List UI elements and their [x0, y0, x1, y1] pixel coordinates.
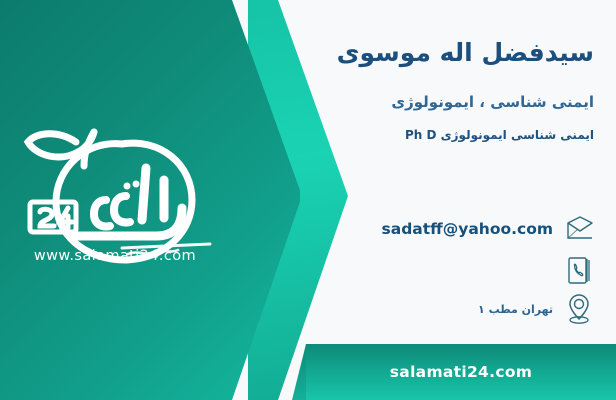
contact-row-email[interactable]: sadatff@yahoo.com	[382, 212, 596, 246]
degree-persian-text: ایمنی شناسی ایمونولوژی	[441, 128, 594, 142]
logo-website-url: www.salamati24.com	[20, 248, 210, 264]
map-pin-icon	[562, 292, 596, 326]
person-name: سیدفضل اله موسوی	[337, 38, 594, 67]
email-address[interactable]: sadatff@yahoo.com	[382, 220, 553, 238]
contact-row-phone[interactable]	[553, 254, 596, 288]
phone-book-icon	[562, 254, 596, 288]
contact-row-address[interactable]: تهران مطب ۱	[478, 292, 596, 326]
address-text: تهران مطب ۱	[478, 303, 553, 316]
degree-latin-text: Ph D	[405, 128, 436, 142]
envelope-icon	[562, 212, 596, 246]
card-content-area: سیدفضل اله موسوی ایمنی شناسی ، ایمونولوژ…	[300, 0, 616, 400]
person-specialty: ایمنی شناسی ، ایمونولوژی	[391, 93, 594, 111]
bottom-website-bar[interactable]: salamati24.com	[306, 344, 616, 400]
business-card: www.salamati24.com سیدفضل اله موسوی ایمن…	[0, 0, 616, 400]
person-degree: ایمنی شناسی ایمونولوژی Ph D	[405, 128, 594, 142]
footer-website[interactable]: salamati24.com	[390, 363, 532, 381]
